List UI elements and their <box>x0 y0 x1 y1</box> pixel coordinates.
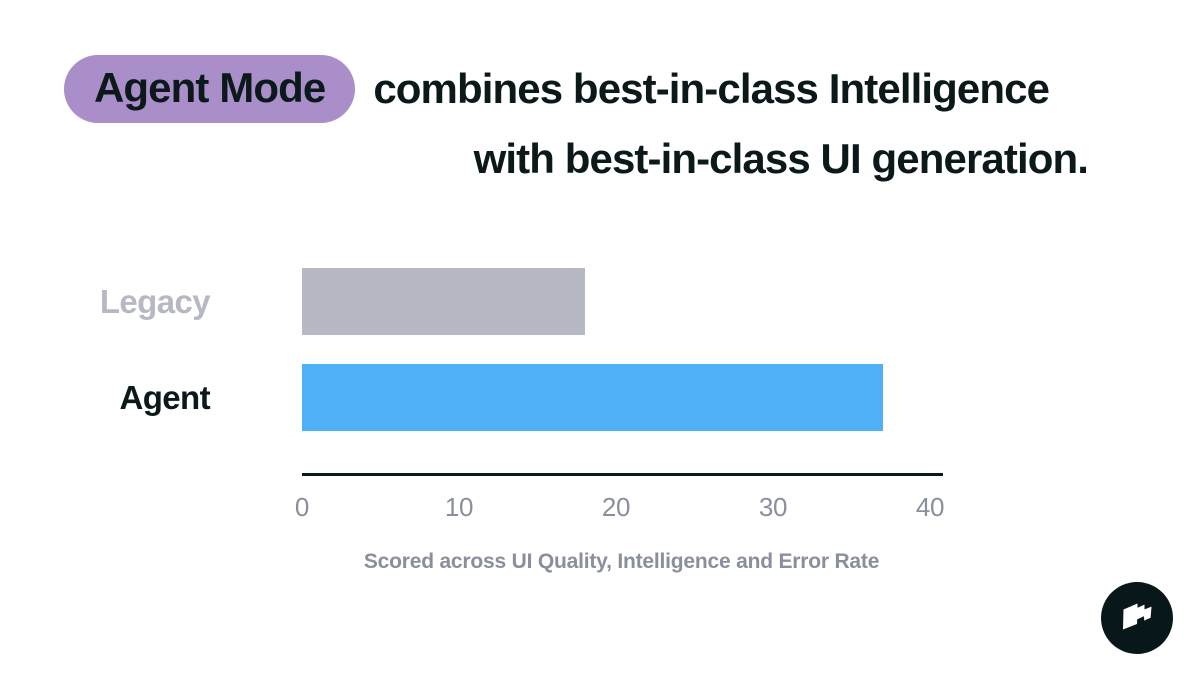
bar-fill-agent <box>302 364 883 431</box>
bar-row-legacy: Legacy <box>0 268 1200 335</box>
bar-label-agent: Agent <box>120 379 211 417</box>
zap-flag-icon <box>1117 598 1157 639</box>
headline-rest-text: combines best-in-class Intelligence <box>355 63 1049 115</box>
headline: Agent Modecombines best-in-class Intelli… <box>64 52 1154 193</box>
headline-line-1: Agent Modecombines best-in-class Intelli… <box>64 52 1154 123</box>
x-axis-line <box>302 473 943 476</box>
brand-logo-badge[interactable] <box>1101 582 1173 654</box>
bar-label-legacy: Legacy <box>100 283 210 321</box>
x-tick-10: 10 <box>445 492 473 523</box>
bar-row-agent: Agent <box>0 364 1200 431</box>
bar-track-legacy <box>302 268 930 335</box>
x-axis-ticks: 010203040 <box>302 492 930 526</box>
bar-chart: Legacy Agent 010203040 Scored across UI … <box>0 268 1200 460</box>
x-tick-30: 30 <box>759 492 787 523</box>
bar-fill-legacy <box>302 268 585 335</box>
agent-mode-pill: Agent Mode <box>64 55 355 123</box>
bar-track-agent <box>302 364 930 431</box>
x-tick-0: 0 <box>295 492 309 523</box>
x-tick-20: 20 <box>602 492 630 523</box>
chart-caption: Scored across UI Quality, Intelligence a… <box>0 550 1200 574</box>
x-tick-40: 40 <box>916 492 944 523</box>
headline-line-2: with best-in-class UI generation. <box>64 125 1154 193</box>
